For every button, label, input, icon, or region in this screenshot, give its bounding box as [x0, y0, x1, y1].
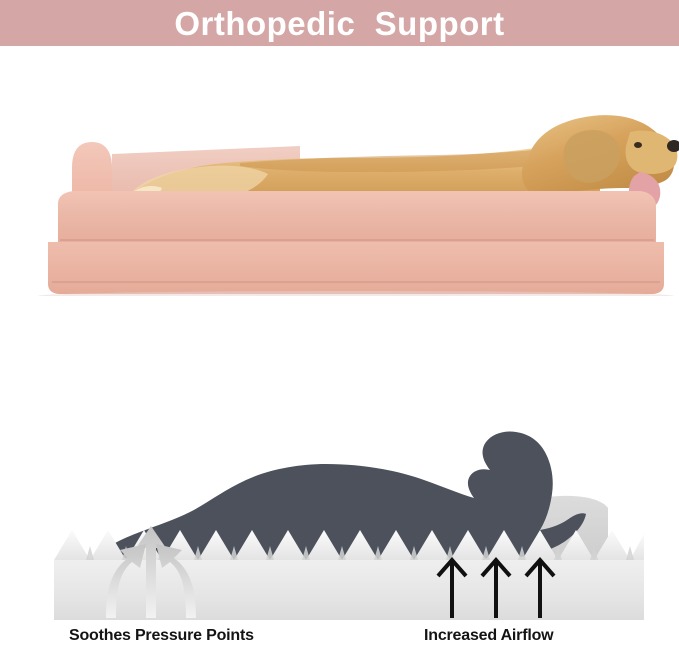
- foam-diagram-illustration: [0, 412, 679, 627]
- header-banner: Orthopedic Support: [0, 0, 679, 46]
- bed-base: [48, 242, 664, 294]
- caption-increased-airflow: Increased Airflow: [424, 628, 553, 644]
- diagram-captions: Soothes Pressure Points Increased Airflo…: [0, 628, 679, 657]
- dog-muzzle: [626, 130, 678, 173]
- foam-airflow-diagram: [0, 412, 679, 657]
- product-photo-illustration: [0, 46, 679, 296]
- page-title: Orthopedic Support: [174, 7, 504, 40]
- hardness-scale: Too soft 1 Lack of support Moderate hard…: [0, 300, 679, 412]
- product-photo: [0, 46, 679, 296]
- infographic-page: Orthopedic Support: [0, 0, 679, 657]
- caption-soothes-pressure-points: Soothes Pressure Points: [69, 628, 254, 644]
- foam-slab: [54, 560, 644, 620]
- bed-mattress-top: [58, 191, 656, 242]
- dog-eye: [634, 142, 642, 148]
